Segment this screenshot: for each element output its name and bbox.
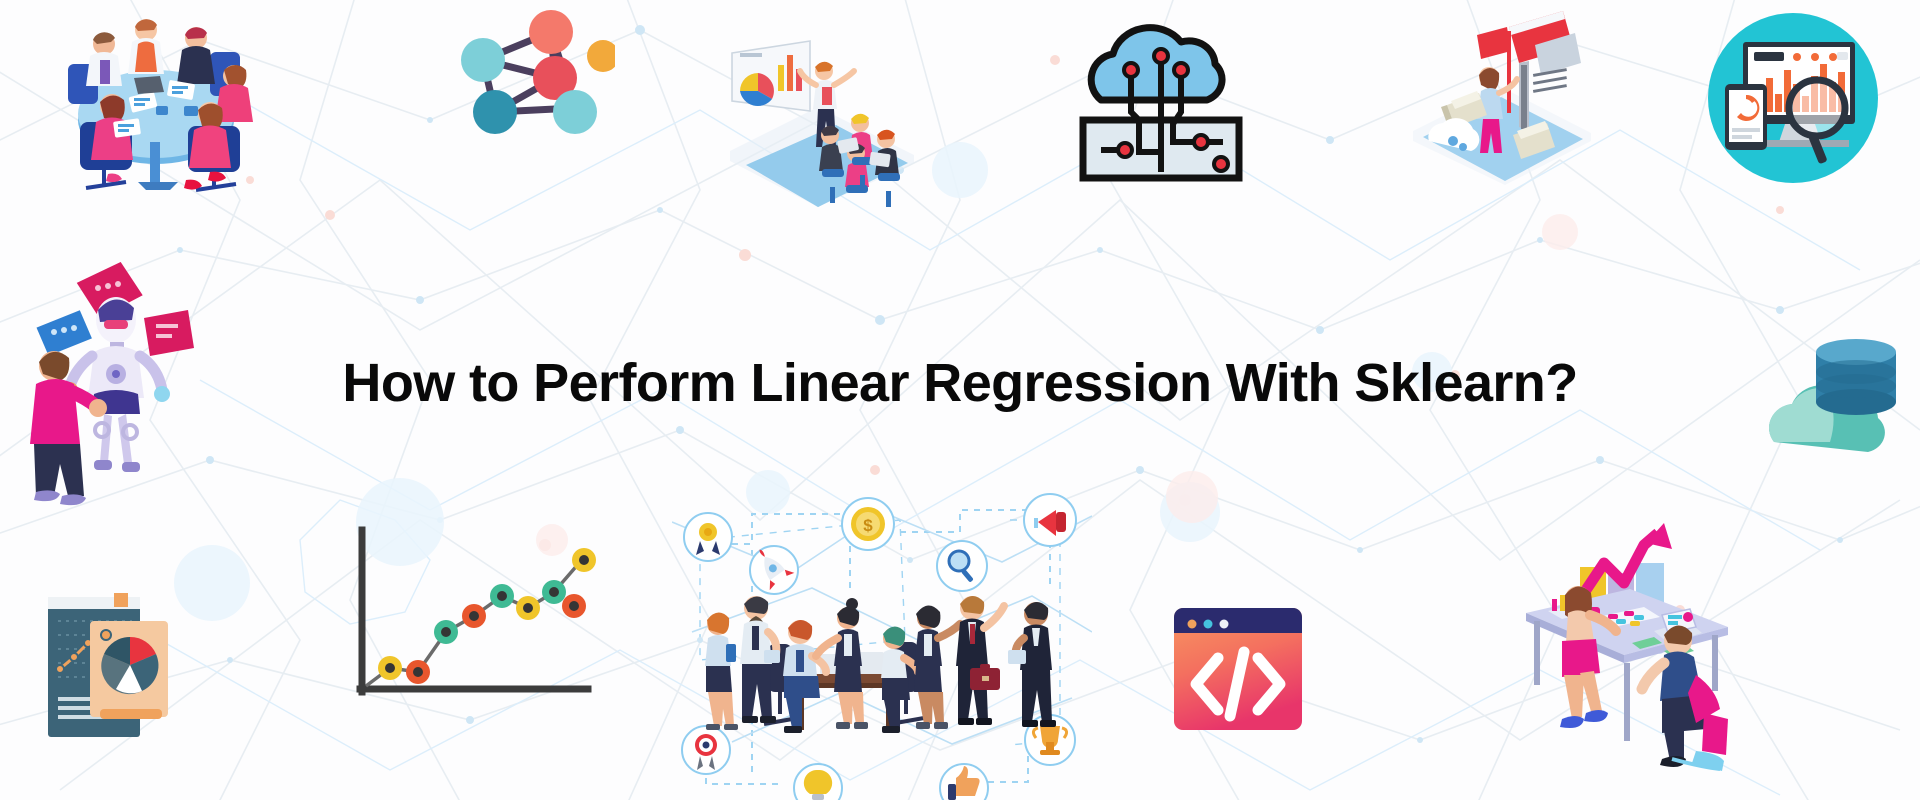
illustration-office-analytics-desk <box>1512 515 1742 780</box>
banner-stage: $ <box>0 0 1920 800</box>
illustration-library-study-desk <box>1405 5 1595 195</box>
illustration-cloud-computing-circuit <box>1065 8 1255 193</box>
illustration-code-window <box>1168 600 1308 735</box>
illustration-neural-network-nodes <box>455 8 615 153</box>
illustration-business-presentation <box>718 35 918 225</box>
illustration-business-team-icons: $ <box>672 492 1092 800</box>
illustration-team-meeting-table <box>38 2 268 197</box>
page-title: How to Perform Linear Regression With Sk… <box>0 354 1920 413</box>
illustration-analytics-dashboard-circle <box>1705 10 1880 185</box>
dollar-coin-icon: $ <box>851 507 885 541</box>
illustration-regression-line-chart <box>340 520 600 710</box>
svg-text:$: $ <box>863 516 873 535</box>
illustration-report-pie-chart <box>38 585 173 750</box>
